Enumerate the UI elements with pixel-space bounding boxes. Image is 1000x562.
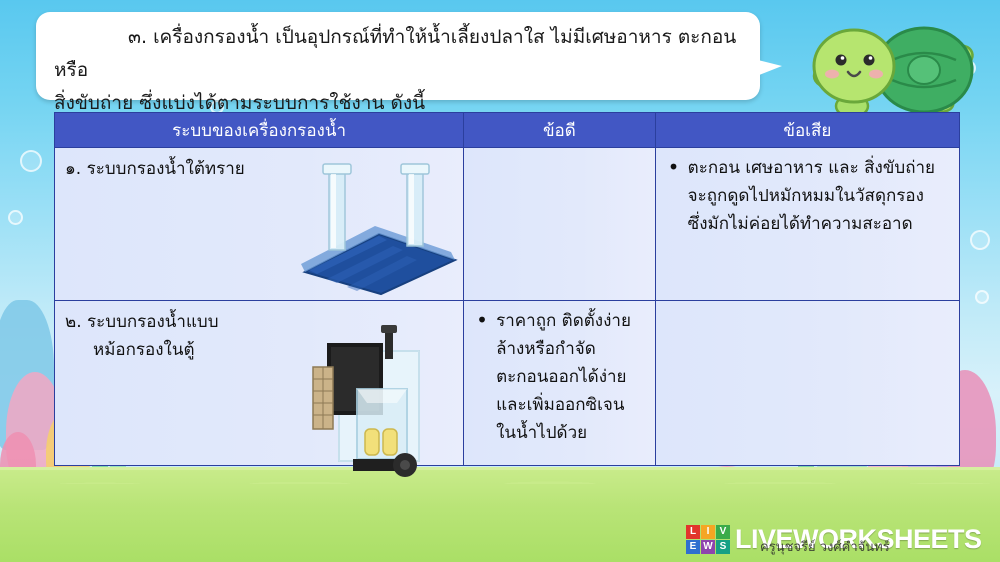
logo-squares: L I V E W S <box>686 525 730 554</box>
row-2-label-line-1: ๒. ระบบกรองน้ำแบบ <box>65 312 219 332</box>
row-2-system-cell: ๒. ระบบกรองน้ำแบบ หม้อกรองในตู้ <box>55 301 464 465</box>
turtle-mascot-icon <box>806 14 988 118</box>
speech-bubble: ๓. เครื่องกรองน้ำ เป็นอุปกรณ์ที่ทำให้น้ำ… <box>36 12 760 100</box>
undergravel-filter-photo <box>287 160 459 296</box>
row-1-cons-cell: ตะกอน เศษอาหาร และ สิ่งขับถ่าย จะถูกดูดไ… <box>656 148 959 301</box>
header-pros: ข้อดี <box>464 113 656 148</box>
row-2-pros-list: ราคาถูก ติดตั้งง่าย ล้างหรือกำจัด ตะกอนอ… <box>464 301 655 447</box>
row-2-cons-cell <box>656 301 959 465</box>
speech-bubble-tail <box>726 52 782 88</box>
filter-systems-table: ระบบของเครื่องกรองน้ำ ข้อดี ข้อเสีย ๑. ร… <box>54 112 960 466</box>
bubble-icon <box>20 150 42 172</box>
logo-square-l: L <box>686 525 700 539</box>
pros-line-2: ล้างหรือกำจัด <box>496 335 647 363</box>
bubble-icon <box>975 290 989 304</box>
bubble-icon <box>970 230 990 250</box>
list-item: ตะกอน เศษอาหาร และ สิ่งขับถ่าย จะถูกดูดไ… <box>666 154 951 238</box>
row-2-pros-cell: ราคาถูก ติดตั้งง่าย ล้างหรือกำจัด ตะกอนอ… <box>464 301 656 465</box>
table-row: ๑. ระบบกรองน้ำใต้ทราย <box>55 148 959 301</box>
cons-line-2: จะถูกดูดไปหมักหมมในวัสดุกรอง <box>688 182 951 210</box>
row-2-label-line-2: หม้อกรองในตู้ <box>65 336 219 364</box>
logo-square-v: V <box>716 525 730 539</box>
row-1-cons-list: ตะกอน เศษอาหาร และ สิ่งขับถ่าย จะถูกดูดไ… <box>656 148 959 238</box>
pros-line-1: ราคาถูก ติดตั้งง่าย <box>496 307 647 335</box>
cons-line-3: ซึ่งมักไม่ค่อยได้ทำความสะอาด <box>688 210 951 238</box>
heading-line-1: ๓. เครื่องกรองน้ำ เป็นอุปกรณ์ที่ทำให้น้ำ… <box>54 21 746 87</box>
row-1-system-cell: ๑. ระบบกรองน้ำใต้ทราย <box>55 148 464 301</box>
list-item: ราคาถูก ติดตั้งง่าย ล้างหรือกำจัด ตะกอนอ… <box>474 307 647 447</box>
slide-heading: ๓. เครื่องกรองน้ำ เป็นอุปกรณ์ที่ทำให้น้ำ… <box>54 21 746 120</box>
logo-square-s: S <box>716 540 730 554</box>
header-cons: ข้อเสีย <box>656 113 959 148</box>
cons-line-1: ตะกอน เศษอาหาร และ สิ่งขับถ่าย <box>688 154 951 182</box>
pros-line-4: และเพิ่มออกซิเจน <box>496 391 647 419</box>
logo-square-e: E <box>686 540 700 554</box>
row-1-pros-cell <box>464 148 656 301</box>
author-credit: ครูนุชจรีย์ วงศ์คำจันทร์ <box>760 536 890 557</box>
hang-on-back-filter-photo <box>291 321 457 481</box>
slide-canvas: ๓. เครื่องกรองน้ำ เป็นอุปกรณ์ที่ทำให้น้ำ… <box>0 0 1000 562</box>
header-system: ระบบของเครื่องกรองน้ำ <box>55 113 464 148</box>
row-2-label: ๒. ระบบกรองน้ำแบบ หม้อกรองในตู้ <box>65 308 219 364</box>
bubble-icon <box>8 210 23 225</box>
table-row: ๒. ระบบกรองน้ำแบบ หม้อกรองในตู้ <box>55 301 959 465</box>
row-1-label: ๑. ระบบกรองน้ำใต้ทราย <box>65 155 245 183</box>
row-1-label-line-1: ๑. ระบบกรองน้ำใต้ทราย <box>65 159 245 179</box>
pros-line-5: ในน้ำไปด้วย <box>496 419 647 447</box>
pros-line-3: ตะกอนออกได้ง่าย <box>496 363 647 391</box>
logo-square-i: I <box>701 525 715 539</box>
logo-square-w: W <box>701 540 715 554</box>
table-header-row: ระบบของเครื่องกรองน้ำ ข้อดี ข้อเสีย <box>55 113 959 148</box>
